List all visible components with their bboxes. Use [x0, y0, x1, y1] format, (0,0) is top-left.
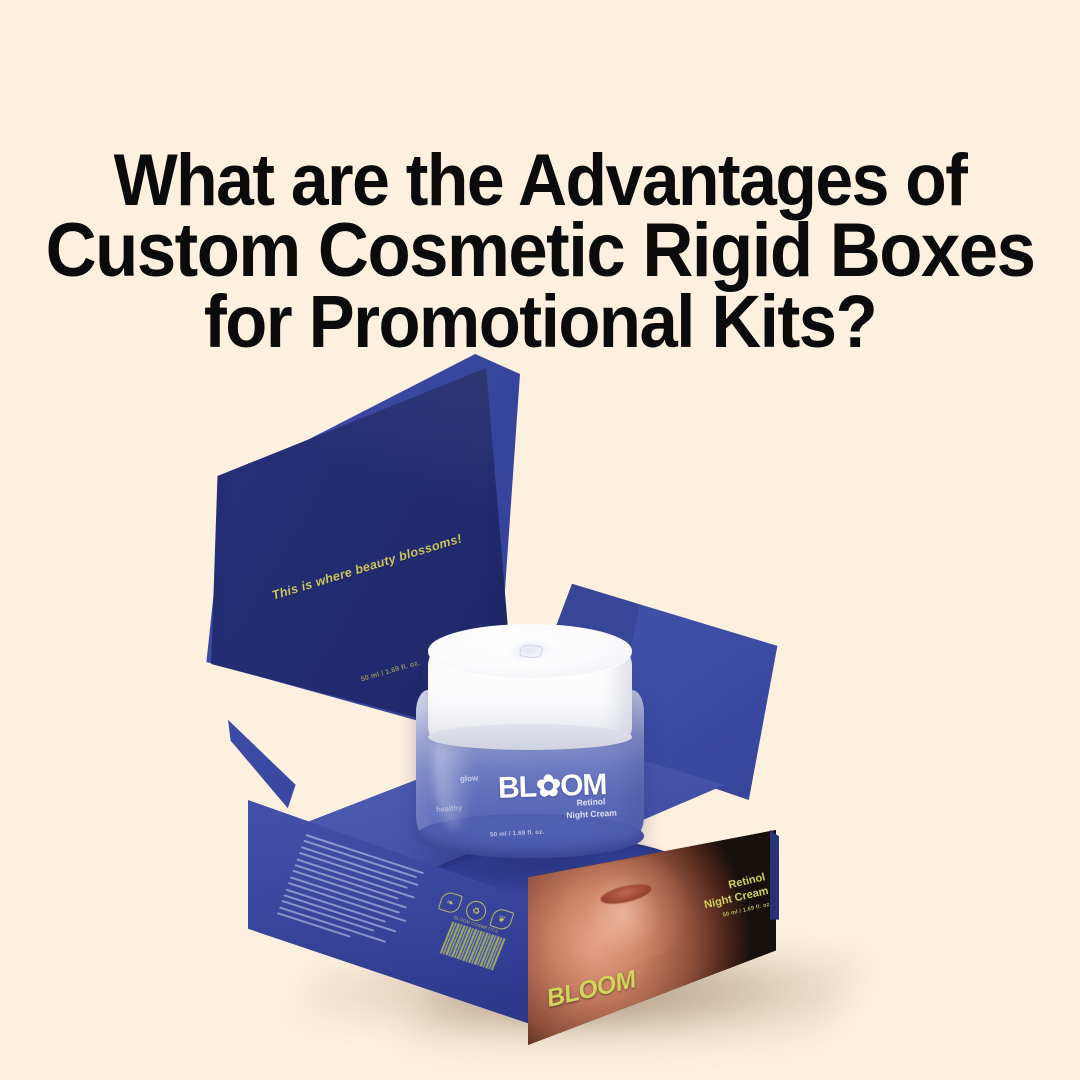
cream-jar: glow healthy BL✿OM Retinol Night Cream 5… [410, 638, 650, 870]
jar-brand-left: BL [497, 771, 536, 805]
jar-product-line-2: Night Cream [566, 807, 617, 822]
product-mockup-scene: This is where beauty blossoms! 50 ml / 1… [0, 330, 1080, 1080]
jar-lid-rim [428, 724, 632, 750]
poster-canvas: What are the Advantages of Custom Cosmet… [0, 0, 1080, 1080]
jar-product-info: Retinol Night Cream [565, 795, 617, 822]
headline-line-1: What are the Advantages of [38, 146, 1042, 215]
jar-word-healthy: healthy [436, 803, 463, 814]
jar-word-glow: glow [460, 774, 479, 784]
page-title: What are the Advantages of Custom Cosmet… [38, 146, 1042, 358]
jar-brand-flower-icon: ✿ [535, 769, 560, 805]
headline-line-2: Custom Cosmetic Rigid Boxes [38, 215, 1042, 287]
